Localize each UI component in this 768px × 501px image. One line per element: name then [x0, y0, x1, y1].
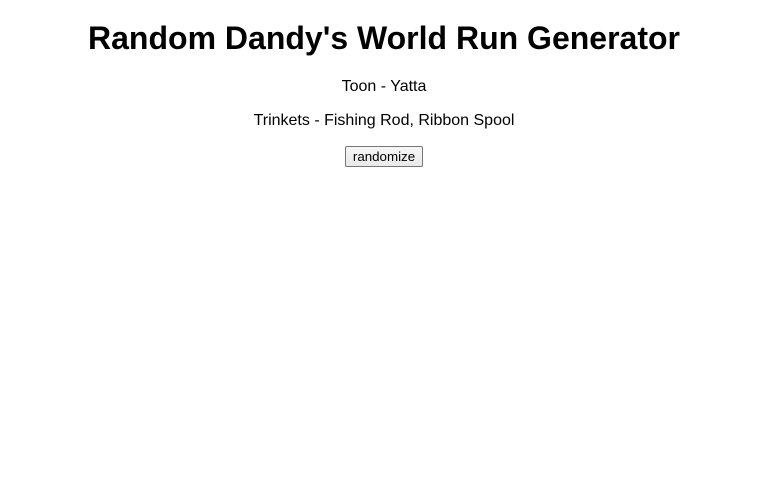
- randomize-button[interactable]: randomize: [345, 146, 423, 167]
- button-row: randomize: [8, 146, 760, 167]
- page-container: Random Dandy's World Run Generator Toon …: [0, 21, 768, 501]
- result-line-toon: Toon - Yatta: [8, 78, 760, 96]
- page-title: Random Dandy's World Run Generator: [8, 21, 760, 57]
- result-line-trinkets: Trinkets - Fishing Rod, Ribbon Spool: [8, 112, 760, 130]
